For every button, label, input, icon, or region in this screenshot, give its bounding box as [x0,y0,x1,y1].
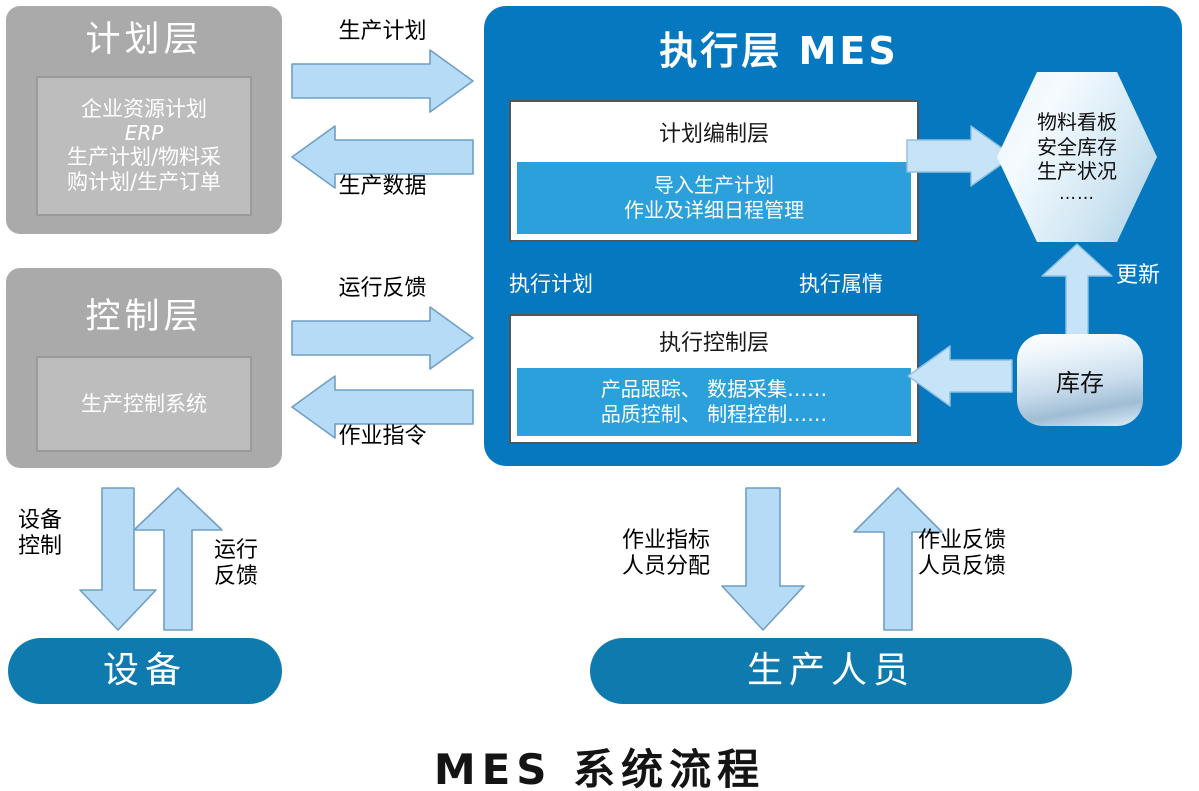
planning-line-4: 购计划/生产订单 [67,170,221,195]
execution-card-body-line-1: 产品跟踪、 数据采集…… [601,377,827,402]
kanban-line-2: 安全库存 [1037,135,1117,159]
personnel-feedback-line-1: 作业反馈 [918,528,1048,554]
arrow-label-update-text: 更新 [1116,263,1160,288]
equipment-label: 设备 [103,653,187,689]
control-layer-box: 控制层 生产控制系统 [6,268,282,468]
planning-layer-box: 计划层 企业资源计划 ERP 生产计划/物料采 购计划/生产订单 [6,6,282,234]
equipment-control-line-1: 设备 [8,508,72,534]
control-layer-inner: 生产控制系统 [36,356,252,452]
personnel-task-line-1: 作业指标 [588,528,710,554]
planning-card-body: 导入生产计划 作业及详细日程管理 [517,162,911,234]
planning-line-2: ERP [125,122,164,145]
mes-mid-label-left: 执行计划 [509,268,593,298]
equipment-control-line-2: 控制 [8,534,72,560]
diagram-footer-title: MES 系统流程 [0,736,1199,791]
execution-card-header: 执行控制层 [511,333,917,355]
kanban-hexagon: 物料看板 安全库存 生产状况 …… [997,72,1157,242]
equipment-feedback-line-2: 反馈 [204,564,268,590]
arrow-label-mes-to-plan: 生产数据 [290,174,475,200]
personnel-task-line-2: 人员分配 [588,554,710,580]
equipment-feedback-line-1: 运行 [204,538,268,564]
execution-control-card: 执行控制层 产品跟踪、 数据采集…… 品质控制、 制程控制…… [509,314,919,444]
equipment-node: 设备 [8,638,282,704]
planning-line-3: 生产计划/物料采 [67,145,221,170]
planning-layer-title: 计划层 [6,23,282,58]
arrow-label-update: 更新 [1116,264,1150,287]
inventory-label: 库存 [1056,363,1104,398]
arrow-label-personnel-feedback: 作业反馈 人员反馈 [918,528,1048,580]
arrow-label-equipment-control: 设备 控制 [8,508,72,560]
execution-card-body-line-2: 品质控制、 制程控制…… [601,402,827,427]
planning-line-1: 企业资源计划 [81,97,207,122]
arrow-label-plan-to-mes: 生产计划 [290,19,475,45]
inventory-node: 库存 [1017,334,1143,426]
planning-card-body-line-2: 作业及详细日程管理 [624,198,804,223]
arrow-inventory-to-execution [906,344,1014,408]
kanban-line-3: 生产状况 [1037,159,1117,183]
kanban-ellipsis: …… [1059,184,1095,204]
planning-compilation-card: 计划编制层 导入生产计划 作业及详细日程管理 [509,100,919,242]
arrow-update-inventory-to-kanban [1040,242,1114,338]
personnel-label: 生产人员 [747,653,915,689]
mes-mid-label-right: 执行属情 [799,268,883,298]
planning-layer-inner: 企业资源计划 ERP 生产计划/物料采 购计划/生产订单 [36,76,252,216]
arrow-plan-to-mes [290,48,475,114]
planning-card-body-line-1: 导入生产计划 [654,173,774,198]
control-line-1: 生产控制系统 [81,392,207,417]
planning-card-header: 计划编制层 [511,124,917,146]
arrow-label-control-to-mes: 运行反馈 [290,276,475,302]
arrow-label-personnel-task: 作业指标 人员分配 [588,528,710,580]
diagram-canvas: 计划层 企业资源计划 ERP 生产计划/物料采 购计划/生产订单 控制层 生产控… [0,0,1199,791]
mes-execution-panel: 执行层 MES 计划编制层 导入生产计划 作业及详细日程管理 执行计划 执行属情… [484,6,1182,466]
control-layer-title: 控制层 [6,300,282,335]
arrow-control-to-mes [290,305,475,371]
arrow-label-mes-to-control: 作业指令 [290,424,475,450]
kanban-line-1: 物料看板 [1037,110,1117,134]
execution-card-body: 产品跟踪、 数据采集…… 品质控制、 制程控制…… [517,368,911,436]
arrow-personnel-task-down [720,486,806,632]
personnel-node: 生产人员 [590,638,1072,704]
personnel-feedback-line-2: 人员反馈 [918,554,1048,580]
mes-panel-title: 执行层 MES [514,32,1044,70]
arrow-label-equipment-feedback: 运行 反馈 [204,538,268,590]
